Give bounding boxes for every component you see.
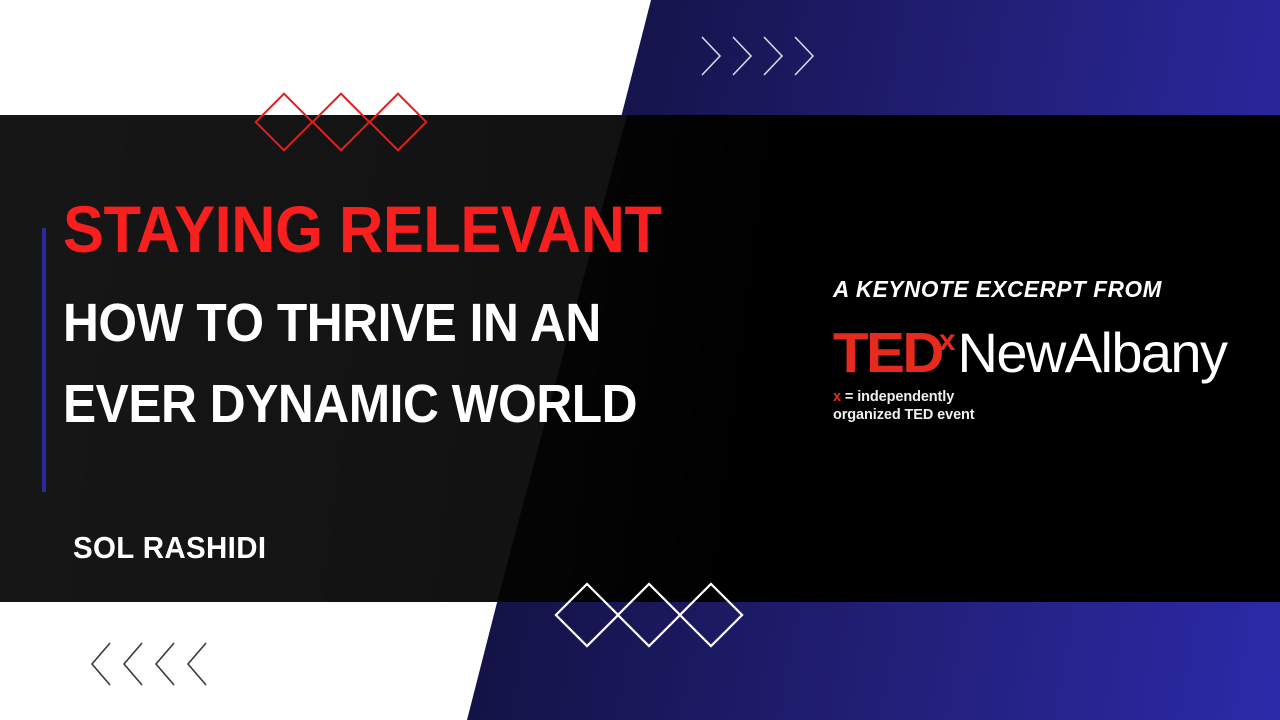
blue-accent-bar xyxy=(42,228,46,492)
headline-secondary-line-2: EVER DYNAMIC WORLD xyxy=(63,373,725,435)
tedx-ted-text: TED xyxy=(833,325,942,382)
tedx-tagline-line-1: x = independently xyxy=(833,389,1233,407)
headline-secondary-line-1: HOW TO THRIVE IN AN xyxy=(63,293,601,353)
headline-secondary: HOW TO THRIVE IN AN EVER DYNAMIC WORLD xyxy=(63,292,725,435)
tedx-city-text: NewAlbany xyxy=(958,325,1227,381)
event-attribution-block: A KEYNOTE EXCERPT FROM TED x NewAlbany x… xyxy=(833,276,1233,424)
tedx-tagline-line-2: organized TED event xyxy=(833,407,1233,425)
tedx-tagline-line-1-rest: = independently xyxy=(841,389,954,405)
speaker-name: SOL RASHIDI xyxy=(73,530,266,566)
tedx-tagline-x-mark: x xyxy=(833,389,841,405)
tedx-logo: TED x NewAlbany x = independently organi… xyxy=(833,325,1233,424)
headline-block: STAYING RELEVANT HOW TO THRIVE IN AN EVE… xyxy=(63,196,783,435)
keynote-kicker: A KEYNOTE EXCERPT FROM xyxy=(833,276,1225,303)
slide-canvas: STAYING RELEVANT HOW TO THRIVE IN AN EVE… xyxy=(0,0,1280,720)
tedx-x-superscript: x xyxy=(939,326,955,356)
tedx-tagline: x = independently organized TED event xyxy=(833,389,1233,424)
headline-primary: STAYING RELEVANT xyxy=(63,196,733,262)
tedx-wordmark: TED x NewAlbany xyxy=(833,325,1233,382)
